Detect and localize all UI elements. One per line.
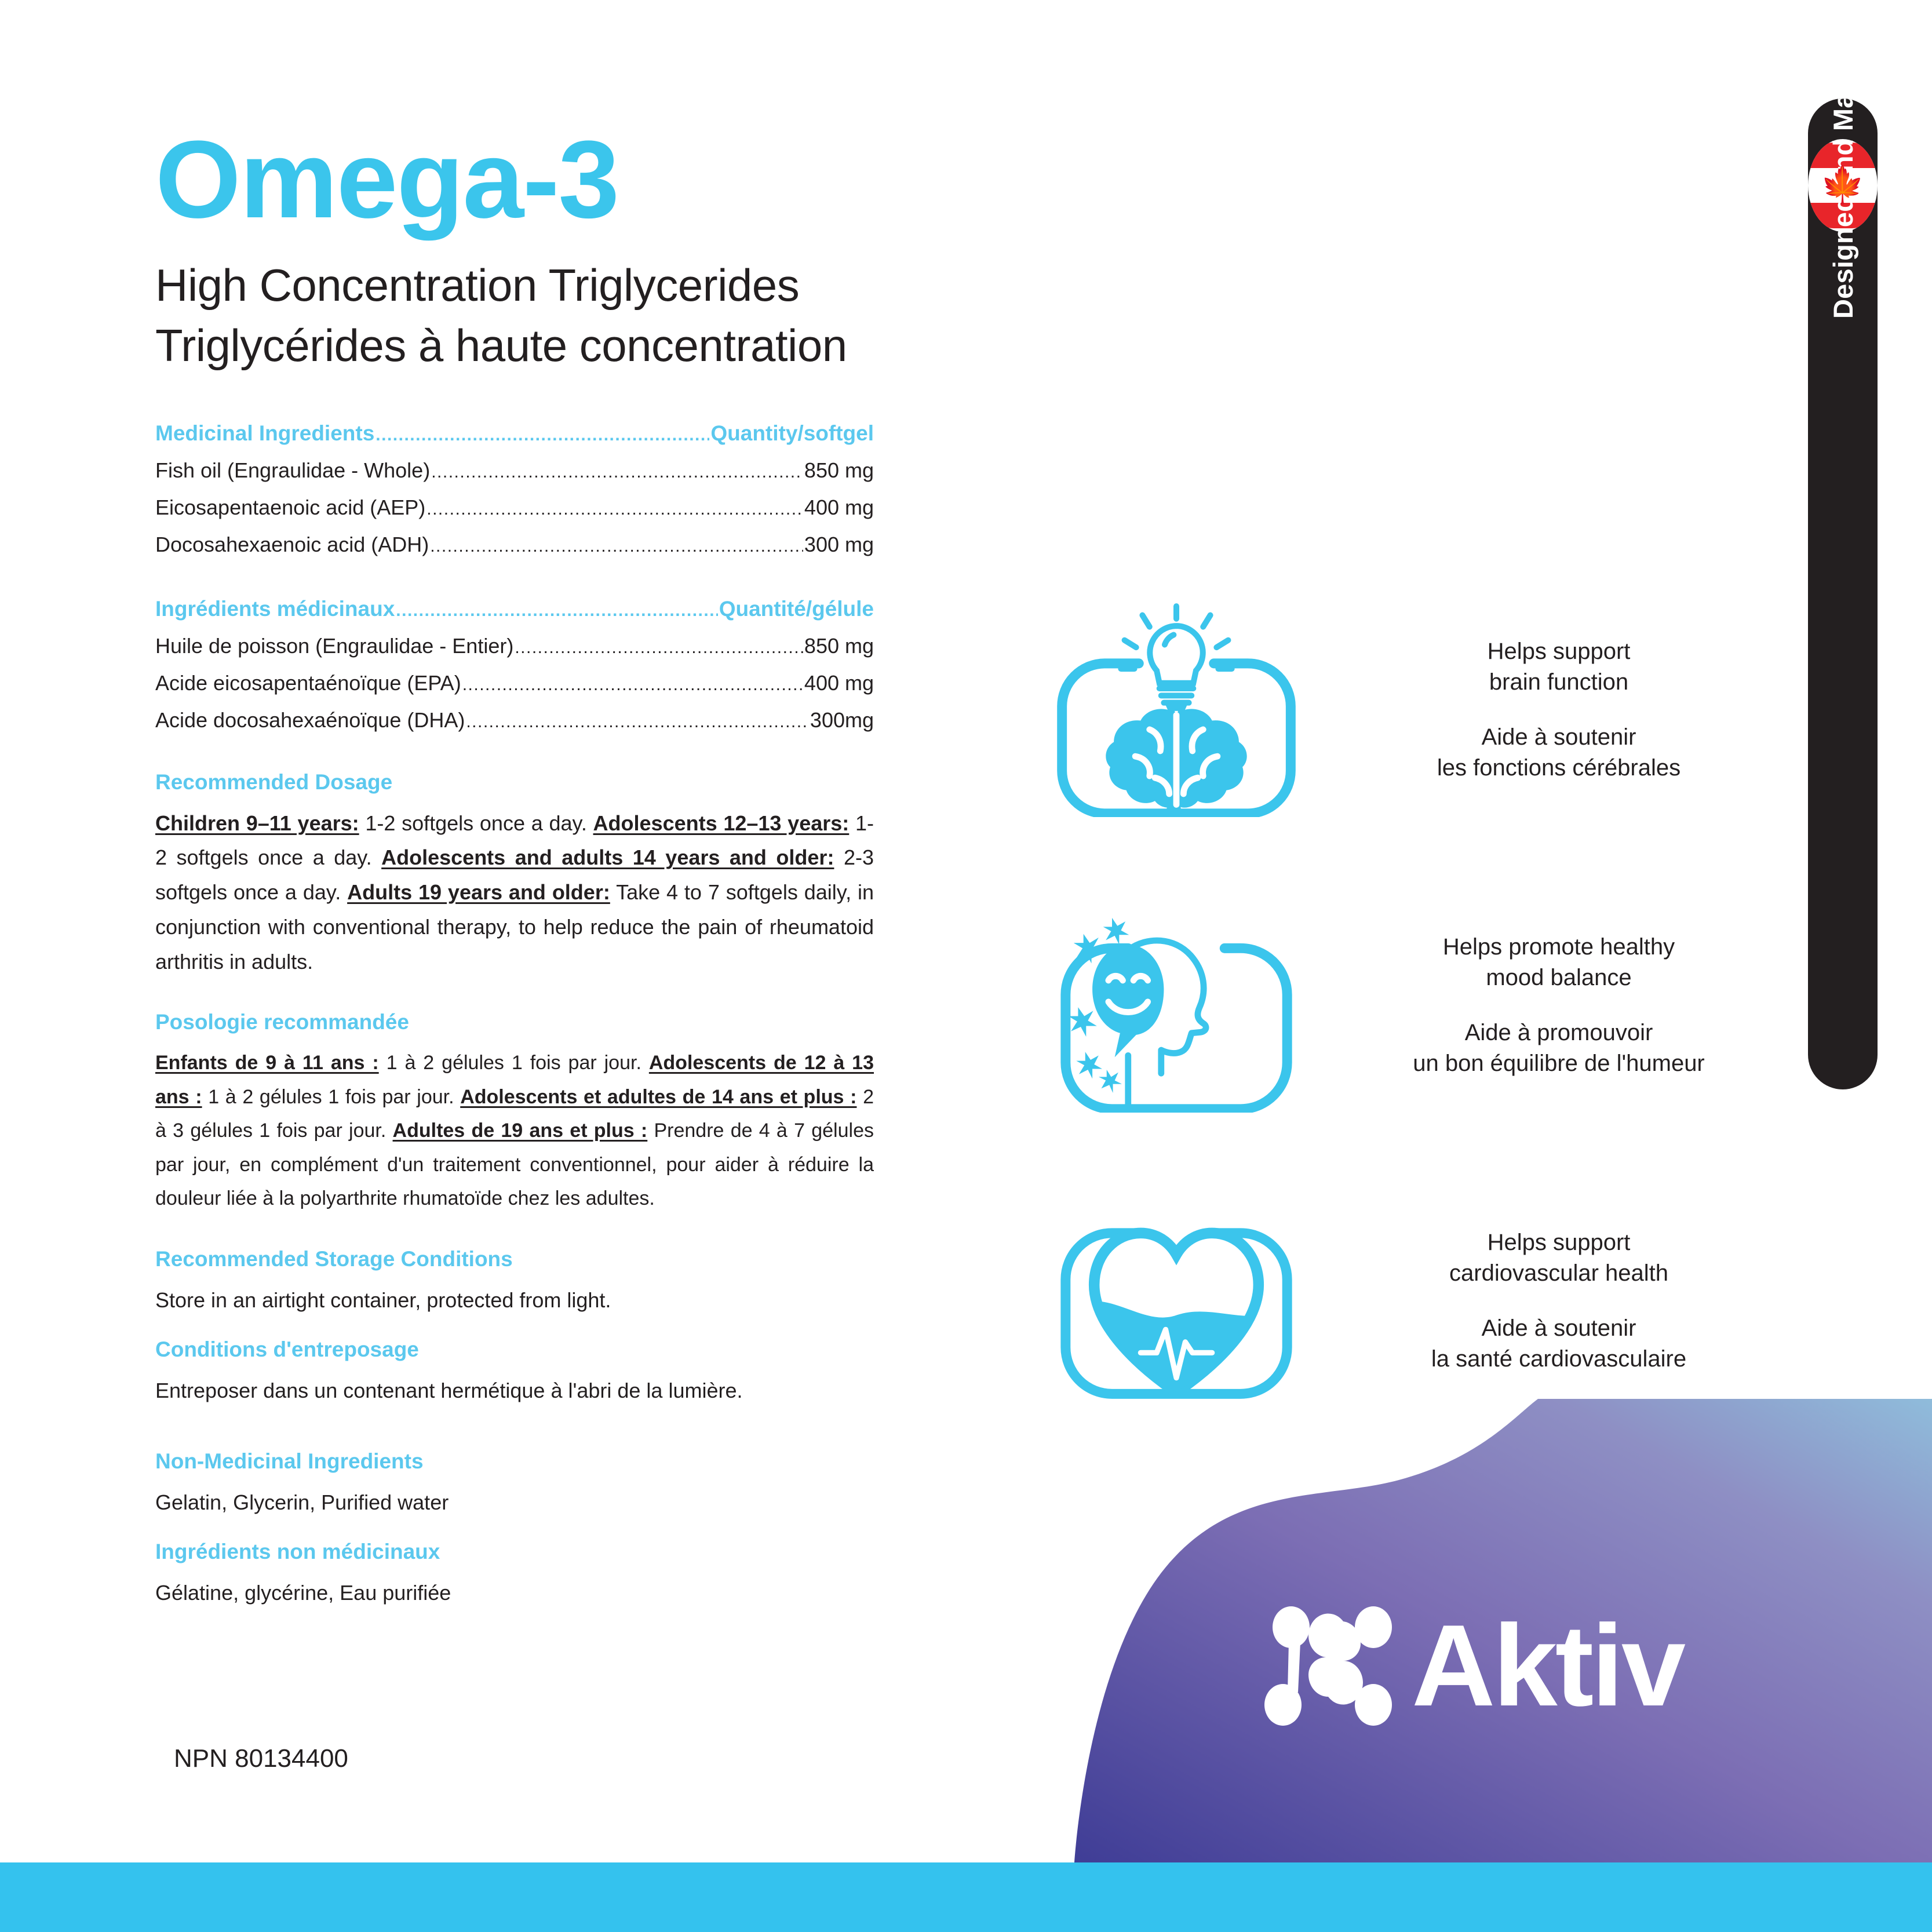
leader-dots: ........................................… [431,464,803,481]
benefit-en-line1: Helps promote healthy [1327,932,1791,963]
table-row: Huile de poisson (Engraulidae - Entier) … [155,628,874,665]
table-header-row: Medicinal Ingredients ..................… [155,414,874,452]
section-heading: Ingrédients non médicinaux [155,1540,874,1564]
label-page: 🍁 Designed and Made in Canada | Conçu et… [0,0,1932,1932]
brain-lightbulb-icon [1037,603,1315,817]
mood-face-icon [1037,898,1315,1113]
maple-leaf-icon: 🍁 [1820,167,1865,203]
dosage-text-fr: Enfants de 9 à 11 ans : 1 à 2 gélules 1 … [155,1046,874,1215]
ingredient-qty: 400 mg [804,497,874,518]
ingredient-name: Fish oil (Engraulidae - Whole) [155,460,430,481]
benefit-fr-line1: Aide à soutenir [1327,1313,1791,1344]
benefit-item: Helps support brain function Aide à sout… [1037,603,1791,817]
ingredient-qty: 300mg [810,710,874,731]
column-header-name: Medicinal Ingredients [155,422,374,444]
benefit-fr-line2: la santé cardiovasculaire [1327,1344,1791,1375]
table-row: Eicosapentaenoic acid (AEP) ............… [155,489,874,526]
bottom-accent-bar [0,1862,1932,1932]
made-in-canada-badge: 🍁 Designed and Made in Canada | Conçu et… [1808,99,1878,1089]
benefit-fr-line2: un bon équilibre de l'humeur [1327,1048,1791,1079]
benefit-fr-line1: Aide à promouvoir [1327,1018,1791,1048]
benefit-en-line2: brain function [1327,667,1791,698]
product-subtitle-en: High Concentration Triglycerides [155,257,874,315]
molecule-nodes-icon [1257,1605,1397,1727]
storage-section-en: Recommended Storage Conditions Store in … [155,1247,874,1318]
leader-dots: ........................................… [462,676,803,694]
storage-text-fr: Entreposer dans un contenant hermétique … [155,1373,874,1408]
table-row: Fish oil (Engraulidae - Whole) .........… [155,452,874,489]
table-row: Acide eicosapentaénoïque (EPA) .........… [155,665,874,702]
column-header-name: Ingrédients médicinaux [155,598,395,619]
ingredient-name: Acide docosahexaénoïque (DHA) [155,710,465,731]
brand-logo: Aktiv [1257,1605,1683,1727]
table-header-row: Ingrédients médicinaux .................… [155,590,874,628]
brand-name: Aktiv [1412,1608,1683,1724]
section-heading: Posologie recommandée [155,1010,874,1034]
product-subtitle-fr: Triglycérides à haute concentration [155,317,874,375]
ingredient-qty: 850 mg [804,636,874,657]
benefit-en-line1: Helps support [1327,636,1791,667]
leader-dots: ........................................… [376,427,709,444]
leader-dots: ........................................… [515,639,803,657]
heart-pulse-icon [1037,1194,1315,1408]
benefit-fr-line1: Aide à soutenir [1327,722,1791,753]
table-row: Acide docosahexaénoïque (DHA) ..........… [155,702,874,739]
leader-dots: ........................................… [430,538,803,555]
benefit-en-line2: cardiovascular health [1327,1258,1791,1289]
benefit-en-line2: mood balance [1327,963,1791,993]
non-medicinal-text-fr: Gélatine, glycérine, Eau purifiée [155,1576,874,1610]
benefit-fr-line2: les fonctions cérébrales [1327,753,1791,783]
leader-dots: ........................................… [466,713,809,731]
column-header-qty: Quantity/softgel [710,422,874,444]
info-column: Omega-3 High Concentration Triglycerides… [155,0,874,1610]
benefit-item: Helps support cardiovascular health Aide… [1037,1194,1791,1408]
table-row: Docosahexaenoic acid (ADH) .............… [155,526,874,563]
storage-section-fr: Conditions d'entreposage Entreposer dans… [155,1337,874,1408]
ingredient-name: Huile de poisson (Engraulidae - Entier) [155,636,513,657]
recommended-dosage-section-en: Recommended Dosage Children 9–11 years: … [155,770,874,979]
section-heading: Non-Medicinal Ingredients [155,1449,874,1474]
product-title: Omega-3 [155,0,874,235]
medicinal-ingredients-table-en: Medicinal Ingredients ..................… [155,414,874,563]
ingredient-name: Acide eicosapentaénoïque (EPA) [155,673,461,694]
benefits-list: Helps support brain function Aide à sout… [1037,603,1791,1489]
benefit-text: Helps support brain function Aide à sout… [1315,636,1791,783]
benefit-text: Helps promote healthy mood balance Aide … [1315,932,1791,1078]
non-medicinal-section-fr: Ingrédients non médicinaux Gélatine, gly… [155,1540,874,1610]
section-heading: Recommended Storage Conditions [155,1247,874,1271]
non-medicinal-section-en: Non-Medicinal Ingredients Gelatin, Glyce… [155,1449,874,1520]
benefit-item: Helps promote healthy mood balance Aide … [1037,898,1791,1113]
ingredient-qty: 850 mg [804,460,874,481]
non-medicinal-text-en: Gelatin, Glycerin, Purified water [155,1485,874,1520]
storage-text-en: Store in an airtight container, protecte… [155,1283,874,1318]
ingredient-name: Docosahexaenoic acid (ADH) [155,534,429,555]
ingredient-qty: 300 mg [804,534,874,555]
leader-dots: ........................................… [427,501,803,518]
ingredient-qty: 400 mg [804,673,874,694]
dosage-text-en: Children 9–11 years: 1-2 softgels once a… [155,806,874,979]
leader-dots: ........................................… [396,602,717,619]
made-in-canada-text: Designed and Made in Canada | Conçu et f… [1808,99,1878,319]
section-heading: Recommended Dosage [155,770,874,794]
section-heading: Conditions d'entreposage [155,1337,874,1362]
benefit-text: Helps support cardiovascular health Aide… [1315,1227,1791,1374]
npn-number: NPN 80134400 [174,1744,348,1773]
ingredient-name: Eicosapentaenoic acid (AEP) [155,497,425,518]
column-header-qty: Quantité/gélule [719,598,874,619]
medicinal-ingredients-table-fr: Ingrédients médicinaux .................… [155,590,874,739]
benefit-en-line1: Helps support [1327,1227,1791,1258]
recommended-dosage-section-fr: Posologie recommandée Enfants de 9 à 11 … [155,1010,874,1215]
